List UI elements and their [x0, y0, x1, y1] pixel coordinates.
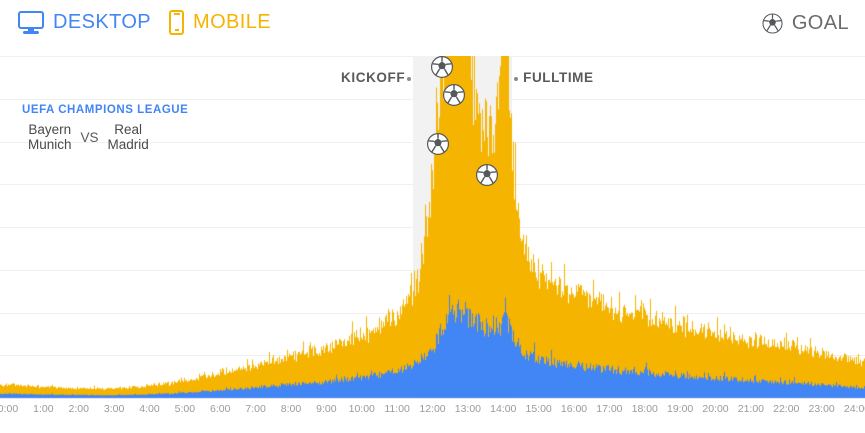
x-axis-tick-label: 20:00	[702, 403, 728, 415]
legend-item-mobile[interactable]: MOBILE	[169, 10, 271, 35]
soccer-ball-icon	[762, 13, 783, 34]
x-axis-tick-label: 12:00	[419, 403, 445, 415]
x-axis-tick-label: 21:00	[738, 403, 764, 415]
legend-item-desktop[interactable]: DESKTOP	[18, 11, 151, 35]
x-axis-tick-label: 7:00	[245, 403, 265, 415]
goal-marker-ball[interactable]	[476, 164, 499, 187]
goal-stem	[486, 185, 488, 219]
goal-marker-ball[interactable]	[431, 56, 454, 79]
series-legend: DESKTOP MOBILE	[18, 10, 271, 35]
goal-marker-ball[interactable]	[426, 133, 449, 156]
goal-stem	[437, 154, 439, 188]
x-axis-tick-label: 17:00	[596, 403, 622, 415]
goal-marker-ball[interactable]	[442, 84, 465, 107]
x-axis-tick-label: 0:00	[0, 403, 18, 415]
legend-label-desktop: DESKTOP	[53, 11, 151, 34]
mobile-phone-icon	[169, 10, 184, 35]
kickoff-marker-dot	[407, 77, 411, 81]
x-axis-tick-label: 14:00	[490, 403, 516, 415]
legend-bar: DESKTOP MOBILE GOAL	[0, 0, 865, 56]
x-axis-tick-label: 11:00	[384, 403, 410, 415]
legend-label-mobile: MOBILE	[193, 11, 271, 34]
page-root: DESKTOP MOBILE GOAL	[0, 0, 865, 433]
x-axis-tick-label: 23:00	[808, 403, 834, 415]
kickoff-label: KICKOFF	[341, 70, 405, 85]
x-axis-tick-label: 24:00	[844, 403, 865, 415]
x-axis-tick-label: 22:00	[773, 403, 799, 415]
x-axis-tick-label: 9:00	[316, 403, 336, 415]
x-axis-tick-label: 18:00	[632, 403, 658, 415]
match-teams: Bayern Munich VS Real Madrid	[28, 122, 149, 152]
x-axis-tick-label: 8:00	[281, 403, 301, 415]
x-axis-tick-label: 10:00	[349, 403, 375, 415]
x-axis-tick-label: 5:00	[175, 403, 195, 415]
x-axis-tick-label: 2:00	[69, 403, 89, 415]
x-axis-tick-label: 3:00	[104, 403, 124, 415]
x-axis-tick-label: 4:00	[139, 403, 159, 415]
team-away-label: Real Madrid	[108, 122, 149, 152]
x-axis-tick-label: 19:00	[667, 403, 693, 415]
legend-item-goal: GOAL	[762, 12, 849, 35]
league-label: UEFA CHAMPIONS LEAGUE	[22, 104, 188, 116]
x-axis-tick-label: 6:00	[210, 403, 230, 415]
fulltime-label: FULLTIME	[523, 70, 594, 85]
legend-label-goal: GOAL	[792, 12, 849, 35]
x-axis-tick-label: 16:00	[561, 403, 587, 415]
x-axis: 0:001:002:003:004:005:006:007:008:009:00…	[0, 399, 865, 433]
chart-plot-area: KICKOFF FULLTIME UEFA CHAMPIONS LEAGUE B…	[0, 56, 865, 399]
versus-label: VS	[81, 130, 99, 145]
x-axis-tick-label: 15:00	[525, 403, 551, 415]
goal-stem	[453, 105, 455, 139]
x-axis-tick-label: 13:00	[455, 403, 481, 415]
desktop-monitor-icon	[18, 11, 44, 35]
team-home-label: Bayern Munich	[28, 122, 72, 152]
x-axis-tick-label: 1:00	[33, 403, 53, 415]
